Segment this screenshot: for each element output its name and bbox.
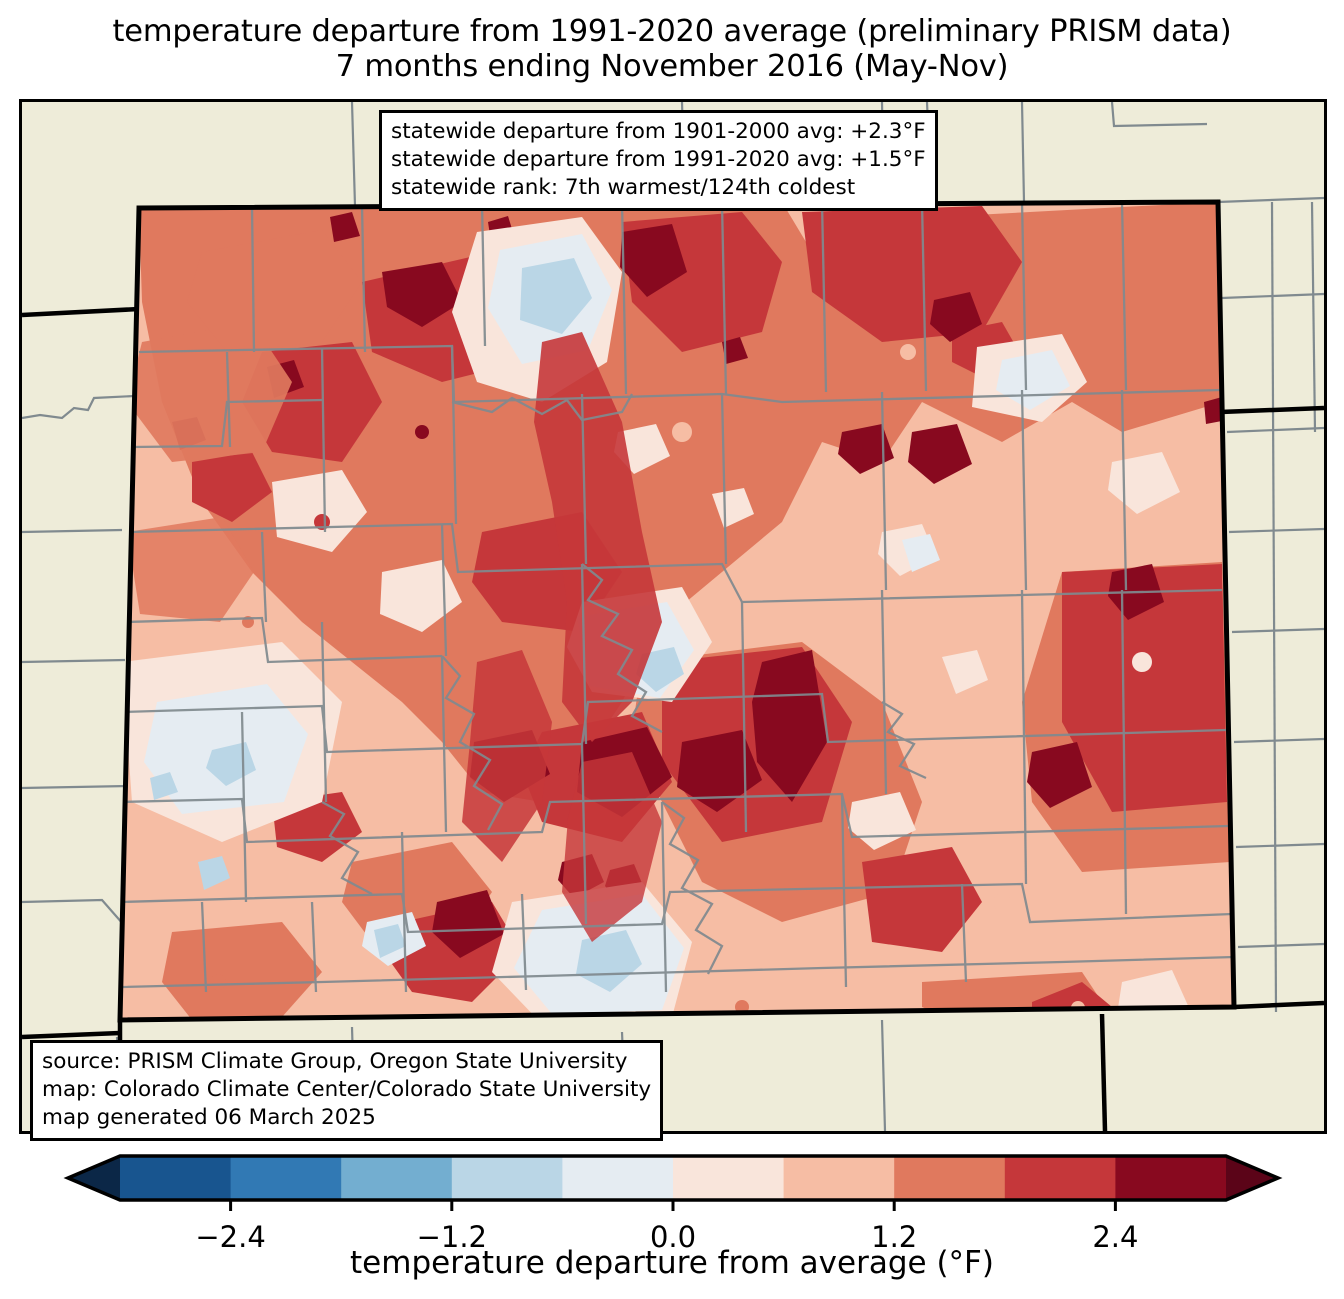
stat-departure-1901-2000: statewide departure from 1901-2000 avg: … <box>391 118 926 146</box>
colorbar-band <box>452 1156 563 1200</box>
colorbar-band <box>562 1156 673 1200</box>
temperature-departure-map <box>22 102 1324 1131</box>
statewide-stats-box: statewide departure from 1901-2000 avg: … <box>379 110 938 211</box>
colorbar-band <box>1005 1156 1116 1200</box>
page-title: temperature departure from 1991-2020 ave… <box>0 14 1344 85</box>
source-attribution-box: source: PRISM Climate Group, Oregon Stat… <box>30 1040 663 1141</box>
colorbar-band <box>231 1156 342 1200</box>
title-line-1: temperature departure from 1991-2020 ave… <box>0 14 1344 49</box>
colorbar-svg: −2.4−1.20.01.22.4 <box>0 1148 1344 1258</box>
map-credit-line: map: Colorado Climate Center/Colorado St… <box>42 1076 651 1104</box>
contour-field <box>112 192 1242 1036</box>
stat-departure-1991-2020: statewide departure from 1991-2020 avg: … <box>391 146 926 174</box>
colorbar-band <box>894 1156 1005 1200</box>
colorbar-band <box>1115 1156 1226 1200</box>
colorbar-band <box>120 1156 231 1200</box>
map-generated-line: map generated 06 March 2025 <box>42 1104 651 1132</box>
colorbar-band <box>341 1156 452 1200</box>
colorbar-bands <box>68 1156 1278 1200</box>
title-line-2: 7 months ending November 2016 (May-Nov) <box>0 49 1344 84</box>
colorbar-band <box>784 1156 895 1200</box>
colorbar-band <box>673 1156 784 1200</box>
colorbar-axis-label: temperature departure from average (°F) <box>0 1245 1344 1281</box>
colorbar-extend-min <box>68 1156 120 1200</box>
colorbar-extend-max <box>1226 1156 1278 1200</box>
source-line: source: PRISM Climate Group, Oregon Stat… <box>42 1048 651 1076</box>
stat-statewide-rank: statewide rank: 7th warmest/124th coldes… <box>391 174 926 202</box>
map-frame <box>19 99 1327 1134</box>
